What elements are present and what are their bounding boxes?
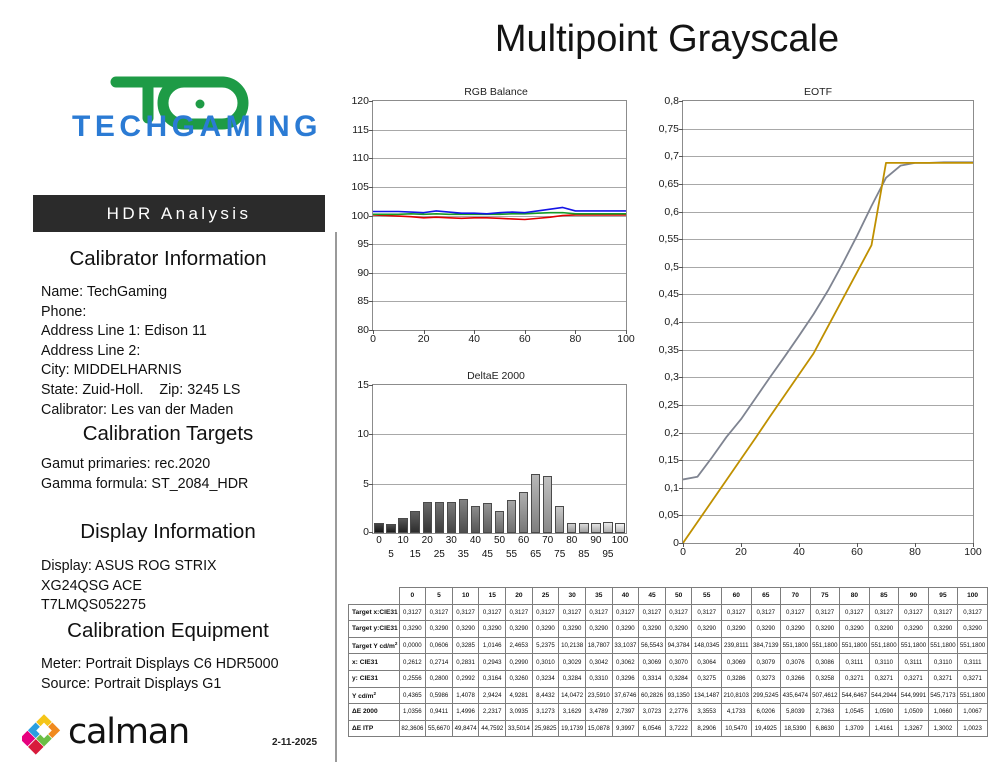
- y-tick-label: 0,25: [659, 399, 679, 411]
- table-cell: 0,3310: [585, 670, 612, 687]
- table-cell: 507,4612: [810, 687, 840, 704]
- series-layer: [373, 101, 626, 330]
- table-cell: 5,2375: [532, 637, 559, 654]
- table-cell: 0,3127: [958, 604, 988, 621]
- table-cell: 0,3271: [899, 670, 929, 687]
- table-cell: 3,0935: [506, 704, 533, 721]
- table-cell: 3,4789: [585, 704, 612, 721]
- table-cell: 239,8111: [721, 637, 751, 654]
- table-cell: 0,3290: [559, 621, 586, 638]
- deltae-x-tick-label: 50: [494, 535, 505, 546]
- table-cell: 0,3070: [665, 654, 692, 671]
- x-tick-label: 40: [468, 333, 480, 345]
- deltae-x-tick-label: 35: [458, 549, 469, 560]
- table-cell: 6,0206: [751, 704, 781, 721]
- y-tick-label: 5: [363, 478, 369, 490]
- rgb-balance-title: RGB Balance: [352, 86, 640, 98]
- rgb-balance-chart: RGB Balance 8085909510010511011512002040…: [352, 86, 640, 361]
- table-cell: 0,3234: [532, 670, 559, 687]
- calibration-targets-heading: Calibration Targets: [0, 422, 336, 446]
- table-row-label: Target y:CIE31: [349, 621, 400, 638]
- table-column-header: 25: [532, 588, 559, 605]
- y-tick-label: 0,05: [659, 509, 679, 521]
- x-tick-label: 60: [851, 546, 863, 558]
- calibrator-line: Calibrator: Les van der Maden: [41, 401, 240, 421]
- table-row-label: Y cd/m2: [349, 687, 400, 704]
- table-cell: 10,2138: [559, 637, 586, 654]
- calman-diamond-logo-icon: [22, 711, 66, 757]
- table-row: ΔE 20001,03560,94111,49962,23173,09353,1…: [349, 704, 988, 721]
- table-cell: 2,9424: [479, 687, 506, 704]
- table-column-header: 55: [692, 588, 722, 605]
- gridline: [373, 434, 626, 435]
- deltae-bar: [555, 506, 564, 533]
- x-tick-label: 80: [909, 546, 921, 558]
- table-row-label: y: CIE31: [349, 670, 400, 687]
- table-cell: 0,3111: [840, 654, 870, 671]
- table-cell: 0,3010: [532, 654, 559, 671]
- eotf-plot-area: 00,050,10,150,20,250,30,350,40,450,50,55…: [682, 100, 974, 544]
- table-cell: 0,3127: [532, 604, 559, 621]
- deltae-x-tick-label: 5: [388, 549, 394, 560]
- table-cell: 1,3002: [928, 720, 958, 737]
- y-tick-label: 0,5: [664, 261, 679, 273]
- table-corner-cell: [349, 588, 400, 605]
- deltae-bar: [386, 524, 395, 533]
- y-tick-label: 0,7: [664, 150, 679, 162]
- table-cell: 0,3110: [869, 654, 899, 671]
- table-cell: 37,6746: [612, 687, 639, 704]
- table-cell: 0,3127: [810, 604, 840, 621]
- table-cell: 19,1739: [559, 720, 586, 737]
- table-cell: 551,1800: [899, 637, 929, 654]
- table-cell: 0,3290: [810, 621, 840, 638]
- table-cell: 0,3266: [781, 670, 811, 687]
- table-cell: 0,3290: [612, 621, 639, 638]
- deltae-x-tick-label: 30: [446, 535, 457, 546]
- y-tick-label: 0,35: [659, 344, 679, 356]
- y-tick-label: 0,55: [659, 233, 679, 245]
- deltae-x-tick-label: 20: [422, 535, 433, 546]
- report-page: TECHGAMING HDR Analysis Calibrator Infor…: [0, 0, 994, 768]
- table-row: ΔE ITP82,360655,667049,847444,759233,501…: [349, 720, 988, 737]
- table-cell: 1,0146: [479, 637, 506, 654]
- table-column-header: 65: [751, 588, 781, 605]
- table-cell: 0,4365: [399, 687, 426, 704]
- table-cell: 0,3286: [721, 670, 751, 687]
- table-column-header: 45: [639, 588, 666, 605]
- table-cell: 2,7363: [810, 704, 840, 721]
- y-tick-label: 115: [352, 124, 369, 136]
- table-cell: 0,3290: [532, 621, 559, 638]
- target-line: Gamma formula: ST_2084_HDR: [41, 475, 248, 495]
- deltae-x-tick-label: 70: [542, 535, 553, 546]
- table-cell: 0,3127: [899, 604, 929, 621]
- table-cell: 1,0509: [899, 704, 929, 721]
- column-divider: [335, 232, 337, 762]
- table-cell: 0,3290: [781, 621, 811, 638]
- page-title: Multipoint Grayscale: [340, 18, 994, 61]
- table-cell: 0,3271: [840, 670, 870, 687]
- table-cell: 0,3290: [928, 621, 958, 638]
- unit-exponent: 2: [374, 691, 377, 696]
- table-cell: 0,3290: [665, 621, 692, 638]
- table-cell: 8,4432: [532, 687, 559, 704]
- table-cell: 55,6670: [426, 720, 453, 737]
- series-line-red: [373, 215, 626, 220]
- deltae-2000-chart: DeltaE 2000 0510150510152025303540455055…: [352, 370, 640, 575]
- table-cell: 0,3284: [559, 670, 586, 687]
- table-cell: 0,3271: [869, 670, 899, 687]
- table-cell: 1,4161: [869, 720, 899, 737]
- table-cell: 60,2826: [639, 687, 666, 704]
- table-row: Target x:CIE310,31270,31270,31270,31270,…: [349, 604, 988, 621]
- table-cell: 0,2992: [452, 670, 479, 687]
- table-header-row: 0510152025303540455055606570758085909510…: [349, 588, 988, 605]
- y-tick-mark: [369, 532, 373, 533]
- deltae-bar: [543, 476, 552, 533]
- table-cell: 49,8474: [452, 720, 479, 737]
- table-cell: 0,3127: [692, 604, 722, 621]
- table-body: Target x:CIE310,31270,31270,31270,31270,…: [349, 604, 988, 737]
- table-cell: 0,2714: [426, 654, 453, 671]
- deltae-bar: [567, 523, 576, 533]
- table-cell: 2,7397: [612, 704, 639, 721]
- table-cell: 56,5543: [639, 637, 666, 654]
- table-cell: 0,3127: [559, 604, 586, 621]
- table-cell: 0,3076: [781, 654, 811, 671]
- display-information-lines: Display: ASUS ROG STRIXXG24QSG ACET7LMQS…: [41, 557, 217, 616]
- table-cell: 0,3290: [869, 621, 899, 638]
- table-cell: 3,0723: [639, 704, 666, 721]
- deltae-bar: [483, 503, 492, 533]
- table-cell: 1,4996: [452, 704, 479, 721]
- table-column-header: 100: [958, 588, 988, 605]
- table-cell: 0,3079: [751, 654, 781, 671]
- y-tick-label: 105: [351, 181, 369, 193]
- display-line: T7LMQS052275: [41, 596, 217, 616]
- table-cell: 0,3258: [810, 670, 840, 687]
- series-layer: [683, 101, 973, 543]
- deltae-2000-plot-area: 0510150510152025303540455055606570758085…: [372, 384, 627, 534]
- table-cell: 6,8630: [810, 720, 840, 737]
- table-cell: 1,3267: [899, 720, 929, 737]
- eotf-chart: EOTF 00,050,10,150,20,250,30,350,40,450,…: [648, 86, 988, 575]
- table-cell: 0,3086: [810, 654, 840, 671]
- y-tick-label: 0,2: [664, 427, 679, 439]
- table-cell: 0,3029: [559, 654, 586, 671]
- table-cell: 0,3069: [721, 654, 751, 671]
- deltae-x-tick-label: 75: [554, 549, 565, 560]
- table-cell: 0,3290: [506, 621, 533, 638]
- y-tick-label: 0,65: [659, 178, 679, 190]
- series-line-measured: [683, 162, 973, 479]
- deltae-bar: [519, 492, 528, 533]
- table-cell: 4,1733: [721, 704, 751, 721]
- x-tick-label: 100: [617, 333, 635, 345]
- deltae-bar: [603, 522, 612, 533]
- table-cell: 0,2990: [506, 654, 533, 671]
- table-column-header: 10: [452, 588, 479, 605]
- table-cell: 0,3127: [665, 604, 692, 621]
- table-column-header: 40: [612, 588, 639, 605]
- table-cell: 0,3110: [928, 654, 958, 671]
- y-tick-label: 0,15: [659, 454, 679, 466]
- deltae-bar: [495, 511, 504, 533]
- table-row: x: CIE310,26120,27140,28310,29430,29900,…: [349, 654, 988, 671]
- table-cell: 2,4653: [506, 637, 533, 654]
- table-cell: 0,3260: [506, 670, 533, 687]
- table-cell: 0,2831: [452, 654, 479, 671]
- table-cell: 0,3290: [479, 621, 506, 638]
- techgaming-wordmark: TECHGAMING: [72, 110, 322, 144]
- y-tick-label: 0,3: [664, 371, 679, 383]
- table-cell: 0,3127: [781, 604, 811, 621]
- deltae-x-tick-label: 85: [578, 549, 589, 560]
- calibrator-line: Address Line 2:: [41, 342, 240, 362]
- y-tick-label: 0,45: [659, 288, 679, 300]
- rgb-balance-plot-area: 80859095100105110115120020406080100: [372, 100, 627, 331]
- table-column-header: 80: [840, 588, 870, 605]
- table-cell: 15,0878: [585, 720, 612, 737]
- table-cell: 3,7222: [665, 720, 692, 737]
- x-tick-label: 40: [793, 546, 805, 558]
- unit-exponent: 2: [395, 641, 398, 646]
- table-cell: 1,0590: [869, 704, 899, 721]
- y-tick-label: 0,1: [664, 482, 679, 494]
- table-cell: 0,3284: [665, 670, 692, 687]
- table-column-header: 30: [559, 588, 586, 605]
- table-cell: 0,2943: [479, 654, 506, 671]
- table-cell: 544,6467: [840, 687, 870, 704]
- y-tick-label: 0,8: [664, 95, 679, 107]
- deltae-bar: [374, 523, 383, 533]
- table-row: Target y:CIE310,32900,32900,32900,32900,…: [349, 621, 988, 638]
- table-cell: 0,3111: [958, 654, 988, 671]
- table-cell: 0,3111: [899, 654, 929, 671]
- deltae-x-tick-label: 55: [506, 549, 517, 560]
- table-cell: 0,3127: [721, 604, 751, 621]
- gridline: [373, 484, 626, 485]
- table-column-header: 95: [928, 588, 958, 605]
- equipment-line: Meter: Portrait Displays C6 HDR5000: [41, 655, 279, 675]
- deltae-bar: [507, 500, 516, 533]
- table-column-header: 60: [721, 588, 751, 605]
- deltae-bar: [615, 523, 624, 533]
- calibration-equipment-lines: Meter: Portrait Displays C6 HDR5000Sourc…: [41, 655, 279, 694]
- calibrator-line: City: MIDDELHARNIS: [41, 361, 240, 381]
- y-tick-label: 85: [357, 295, 369, 307]
- x-tick-label: 60: [519, 333, 531, 345]
- table-cell: 0,3290: [585, 621, 612, 638]
- y-tick-label: 0: [673, 537, 679, 549]
- table-cell: 0,3290: [452, 621, 479, 638]
- table-cell: 551,1800: [810, 637, 840, 654]
- table-cell: 0,3290: [426, 621, 453, 638]
- series-line-blue: [373, 207, 626, 213]
- table-cell: 0,3290: [639, 621, 666, 638]
- table-cell: 10,5470: [721, 720, 751, 737]
- table-cell: 18,7807: [585, 637, 612, 654]
- table-row-label: x: CIE31: [349, 654, 400, 671]
- table-cell: 0,0606: [426, 637, 453, 654]
- deltae-bar: [410, 511, 419, 533]
- table-cell: 0,2800: [426, 670, 453, 687]
- table-row-label: Target x:CIE31: [349, 604, 400, 621]
- y-tick-mark: [369, 434, 373, 435]
- table-cell: 3,1273: [532, 704, 559, 721]
- table-cell: 0,3127: [840, 604, 870, 621]
- table-cell: 0,3290: [899, 621, 929, 638]
- table-cell: 551,1800: [928, 637, 958, 654]
- table-cell: 210,8103: [721, 687, 751, 704]
- table-cell: 0,3127: [585, 604, 612, 621]
- table-cell: 0,3127: [869, 604, 899, 621]
- deltae-bar: [423, 502, 432, 533]
- table-cell: 9,3997: [612, 720, 639, 737]
- table-cell: 6,0546: [639, 720, 666, 737]
- table-cell: 545,7173: [928, 687, 958, 704]
- table-cell: 0,3164: [479, 670, 506, 687]
- table-cell: 0,3273: [751, 670, 781, 687]
- deltae-bar: [531, 474, 540, 533]
- table-row: y: CIE310,25560,28000,29920,31640,32600,…: [349, 670, 988, 687]
- y-tick-label: 120: [351, 95, 369, 107]
- deltae-2000-title: DeltaE 2000: [352, 370, 640, 382]
- table-cell: 0,3127: [479, 604, 506, 621]
- table-cell: 435,6474: [781, 687, 811, 704]
- table-cell: 148,0345: [692, 637, 722, 654]
- table-cell: 0,3127: [506, 604, 533, 621]
- table-cell: 0,3290: [958, 621, 988, 638]
- deltae-x-tick-label: 100: [612, 535, 629, 546]
- table-cell: 0,3127: [639, 604, 666, 621]
- table-column-header: 50: [665, 588, 692, 605]
- calibrator-information-heading: Calibrator Information: [0, 247, 336, 271]
- report-date: 2-11-2025: [272, 737, 317, 748]
- table-cell: 551,1800: [840, 637, 870, 654]
- table-cell: 3,3553: [692, 704, 722, 721]
- table-cell: 0,3296: [612, 670, 639, 687]
- table-cell: 33,5014: [506, 720, 533, 737]
- deltae-bar: [447, 502, 456, 533]
- display-line: Display: ASUS ROG STRIX: [41, 557, 217, 577]
- y-tick-label: 0,6: [664, 206, 679, 218]
- table-cell: 551,1800: [781, 637, 811, 654]
- display-information-heading: Display Information: [0, 520, 336, 544]
- table-cell: 0,3314: [639, 670, 666, 687]
- y-tick-label: 95: [357, 238, 369, 250]
- y-tick-label: 100: [351, 210, 369, 222]
- y-tick-mark: [369, 484, 373, 485]
- table-row-label: ΔE ITP: [349, 720, 400, 737]
- table-cell: 0,3290: [751, 621, 781, 638]
- table-cell: 0,3275: [692, 670, 722, 687]
- table-cell: 0,5986: [426, 687, 453, 704]
- table-cell: 134,1487: [692, 687, 722, 704]
- calman-wordmark: calman: [68, 712, 189, 752]
- table-row-label: ΔE 2000: [349, 704, 400, 721]
- table-cell: 94,3784: [665, 637, 692, 654]
- table-cell: 0,3290: [692, 621, 722, 638]
- table-cell: 0,3271: [928, 670, 958, 687]
- table-cell: 544,2944: [869, 687, 899, 704]
- table-column-header: 75: [810, 588, 840, 605]
- calibration-equipment-heading: Calibration Equipment: [0, 619, 336, 643]
- table-cell: 0,3285: [452, 637, 479, 654]
- table-cell: 14,0472: [559, 687, 586, 704]
- table-cell: 0,3069: [639, 654, 666, 671]
- eotf-title: EOTF: [648, 86, 988, 98]
- table-cell: 384,7139: [751, 637, 781, 654]
- y-tick-label: 80: [357, 324, 369, 336]
- x-tick-label: 20: [735, 546, 747, 558]
- deltae-bar: [591, 523, 600, 533]
- table-cell: 551,1800: [869, 637, 899, 654]
- table-cell: 299,5245: [751, 687, 781, 704]
- table-cell: 33,1037: [612, 637, 639, 654]
- deltae-x-tick-label: 40: [470, 535, 481, 546]
- deltae-x-tick-label: 95: [602, 549, 613, 560]
- hdr-analysis-banner: HDR Analysis: [33, 195, 325, 232]
- table-column-header: 0: [399, 588, 426, 605]
- table-cell: 0,3127: [426, 604, 453, 621]
- deltae-bar: [398, 518, 407, 533]
- table-cell: 551,1800: [958, 687, 988, 704]
- table-cell: 1,0356: [399, 704, 426, 721]
- deltae-x-tick-label: 15: [410, 549, 421, 560]
- y-tick-label: 10: [357, 428, 369, 440]
- deltae-bar: [459, 499, 468, 533]
- table-cell: 544,9991: [899, 687, 929, 704]
- x-tick-label: 80: [570, 333, 582, 345]
- table-cell: 1,4078: [452, 687, 479, 704]
- table-cell: 0,3127: [612, 604, 639, 621]
- calibrator-information-lines: Name: TechGamingPhone:Address Line 1: Ed…: [41, 283, 240, 420]
- deltae-x-tick-label: 25: [434, 549, 445, 560]
- x-tick-label: 0: [680, 546, 686, 558]
- y-tick-label: 110: [352, 152, 369, 164]
- table-column-header: 35: [585, 588, 612, 605]
- y-tick-label: 15: [357, 379, 369, 391]
- calibrator-line: Phone:: [41, 303, 240, 323]
- table-cell: 0,2612: [399, 654, 426, 671]
- table-cell: 0,3127: [452, 604, 479, 621]
- table-column-header: 85: [869, 588, 899, 605]
- calibrator-line: State: Zuid-Holl. Zip: 3245 LS: [41, 381, 240, 401]
- table-row: Target Y cd/m20,00000,06060,32851,01462,…: [349, 637, 988, 654]
- table-cell: 0,3064: [692, 654, 722, 671]
- table-cell: 44,7592: [479, 720, 506, 737]
- deltae-x-tick-label: 45: [482, 549, 493, 560]
- table-cell: 2,2776: [665, 704, 692, 721]
- table-cell: 19,4925: [751, 720, 781, 737]
- deltae-bar: [435, 502, 444, 533]
- y-tick-mark: [369, 385, 373, 386]
- table-cell: 1,0067: [958, 704, 988, 721]
- deltae-x-tick-label: 60: [518, 535, 529, 546]
- table-column-header: 90: [899, 588, 929, 605]
- equipment-line: Source: Portrait Displays G1: [41, 675, 279, 695]
- table-cell: 3,1629: [559, 704, 586, 721]
- table-cell: 0,3127: [399, 604, 426, 621]
- calibrator-line: Address Line 1: Edison 11: [41, 322, 240, 342]
- deltae-x-tick-label: 65: [530, 549, 541, 560]
- deltae-x-tick-label: 0: [376, 535, 382, 546]
- table-cell: 1,0660: [928, 704, 958, 721]
- table-cell: 4,9281: [506, 687, 533, 704]
- x-tick-label: 0: [370, 333, 376, 345]
